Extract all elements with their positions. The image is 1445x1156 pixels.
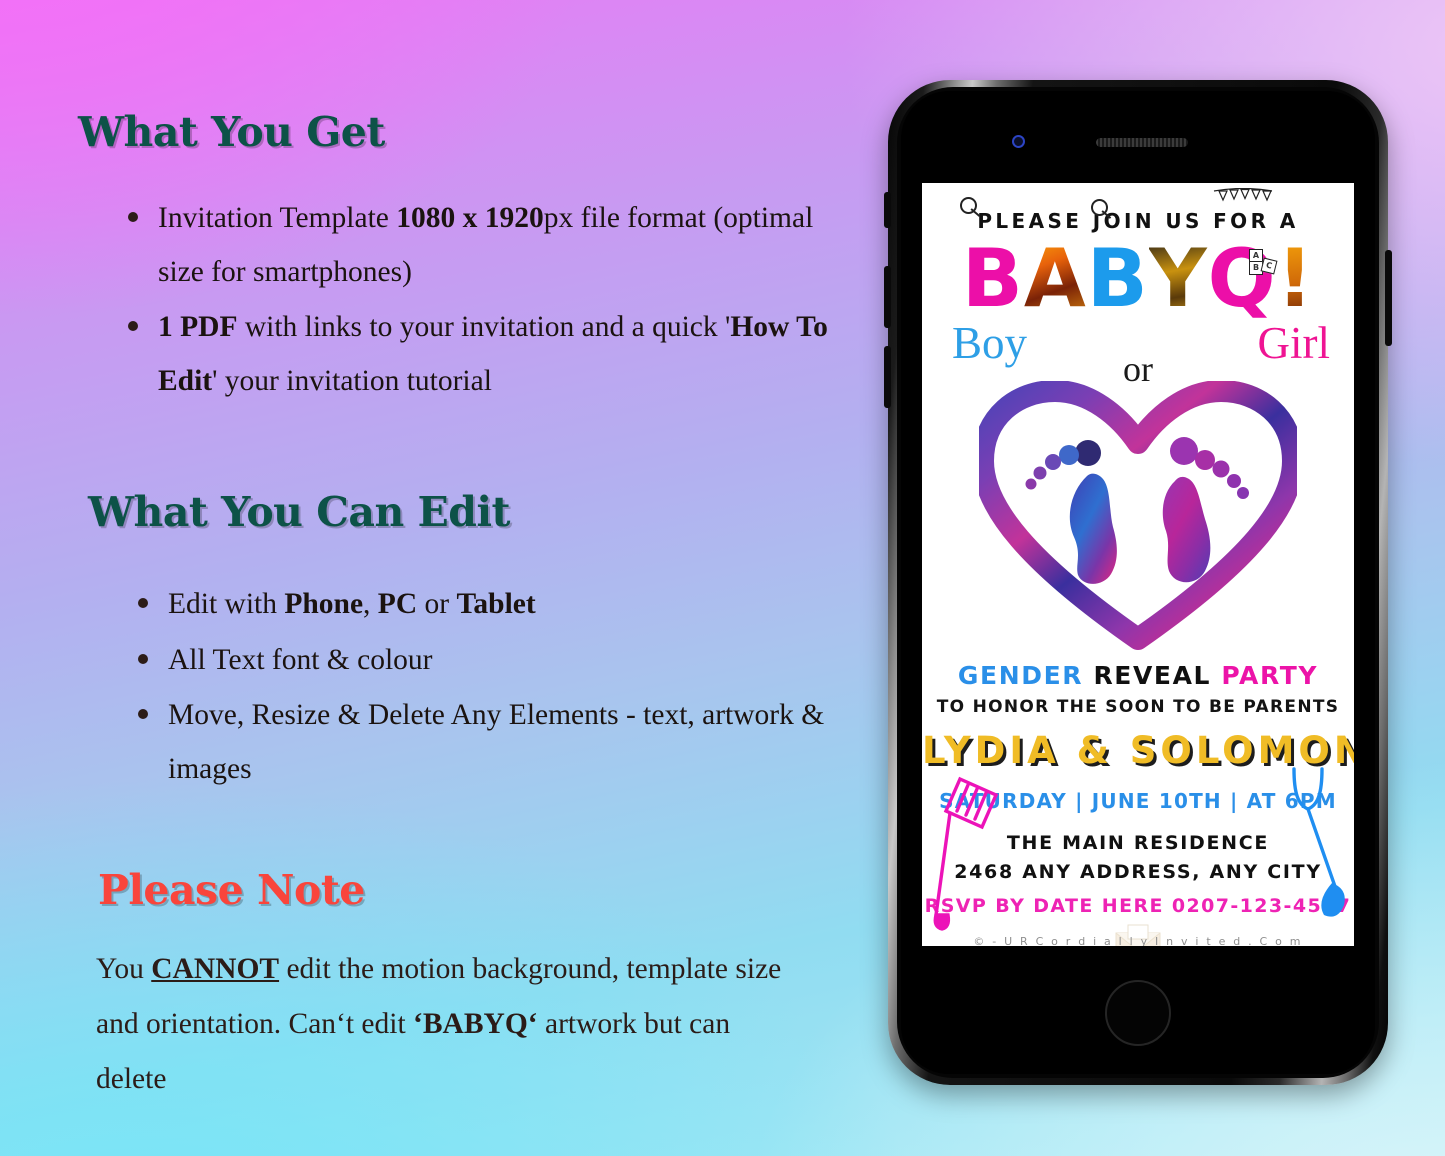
- invitation-join-line: PLEASE JOIN US FOR A: [922, 209, 1354, 233]
- bbq-fork-icon: [1276, 763, 1350, 943]
- what-you-get-heading: What You Get: [78, 112, 385, 153]
- what-you-can-edit-heading: What You Can Edit: [88, 492, 510, 533]
- bbq-spatula-icon: [930, 769, 1004, 939]
- invitation-screen[interactable]: PLEASE JOIN US FOR A BABYQ! ABC Boy or: [922, 183, 1354, 946]
- text-run: with links to your invitation and a quic…: [237, 311, 730, 343]
- text-run: PC: [378, 588, 417, 620]
- volume-up-button[interactable]: [884, 266, 891, 328]
- home-button[interactable]: [1105, 980, 1171, 1046]
- wordmark-letter-b2: B: [1087, 239, 1149, 319]
- reveal-word: REVEAL: [1093, 661, 1211, 690]
- wordmark-letter-b1: B: [962, 239, 1024, 319]
- text-run: You: [96, 953, 151, 985]
- rattle-icon: [1091, 199, 1111, 219]
- power-button[interactable]: [1385, 250, 1392, 346]
- text-run: Move, Resize & Delete Any Elements - tex…: [168, 699, 824, 785]
- text-run: All Text font & colour: [168, 644, 433, 676]
- text-run: Tablet: [456, 588, 535, 620]
- text-run: CANNOT: [151, 953, 279, 985]
- alphabet-blocks-icon: ABC: [1249, 249, 1283, 275]
- girl-label: Girl: [1258, 321, 1331, 366]
- please-note-heading: Please Note: [98, 870, 365, 911]
- list-item: All Text font & colour: [120, 634, 860, 688]
- list-item: 1 PDF with links to your invitation and …: [110, 301, 850, 408]
- text-run: or: [417, 588, 456, 620]
- text-run: Invitation Template: [158, 202, 396, 234]
- text-run: 1 PDF: [158, 311, 237, 343]
- text-run: Phone: [284, 588, 363, 620]
- please-note-body: You CANNOT edit the motion background, t…: [96, 942, 796, 1107]
- what-you-get-list: Invitation Template 1080 x 1920px file f…: [110, 192, 850, 411]
- text-run: ‘BABYQ‘: [413, 1008, 538, 1040]
- gender-word: GENDER: [958, 661, 1083, 690]
- gender-reveal-line: GENDER REVEAL PARTY: [922, 661, 1354, 690]
- wordmark-letter-y: Y: [1149, 239, 1208, 319]
- poster-canvas: What You Get Invitation Template 1080 x …: [0, 0, 1445, 1156]
- honor-line: TO HONOR THE SOON TO BE PARENTS: [922, 697, 1354, 717]
- list-item: Move, Resize & Delete Any Elements - tex…: [120, 689, 860, 796]
- list-item: Invitation Template 1080 x 1920px file f…: [110, 192, 850, 299]
- wordmark-letter-a: A: [1024, 239, 1087, 319]
- front-camera-icon: [1012, 135, 1025, 148]
- rattle-icon: [960, 197, 980, 217]
- silent-switch[interactable]: [884, 192, 891, 228]
- text-run: 1080 x 1920: [396, 202, 544, 234]
- party-word: PARTY: [1221, 661, 1318, 690]
- invitation-card: PLEASE JOIN US FOR A BABYQ! ABC Boy or: [922, 183, 1354, 946]
- text-run: ,: [363, 588, 378, 620]
- what-you-can-edit-list: Edit with Phone, PC or TabletAll Text fo…: [120, 578, 860, 799]
- text-run: ' your invitation tutorial: [212, 365, 492, 397]
- volume-down-button[interactable]: [884, 346, 891, 408]
- bunting-flags-icon: [1213, 188, 1273, 204]
- heart-baby-feet-artwork: [979, 381, 1297, 653]
- phone-mockup: PLEASE JOIN US FOR A BABYQ! ABC Boy or: [888, 80, 1388, 1085]
- earpiece-speaker-icon: [1096, 138, 1188, 147]
- phone-glass: PLEASE JOIN US FOR A BABYQ! ABC Boy or: [901, 91, 1375, 1074]
- babyq-wordmark: BABYQ!: [922, 239, 1354, 319]
- text-run: Edit with: [168, 588, 284, 620]
- list-item: Edit with Phone, PC or Tablet: [120, 578, 860, 632]
